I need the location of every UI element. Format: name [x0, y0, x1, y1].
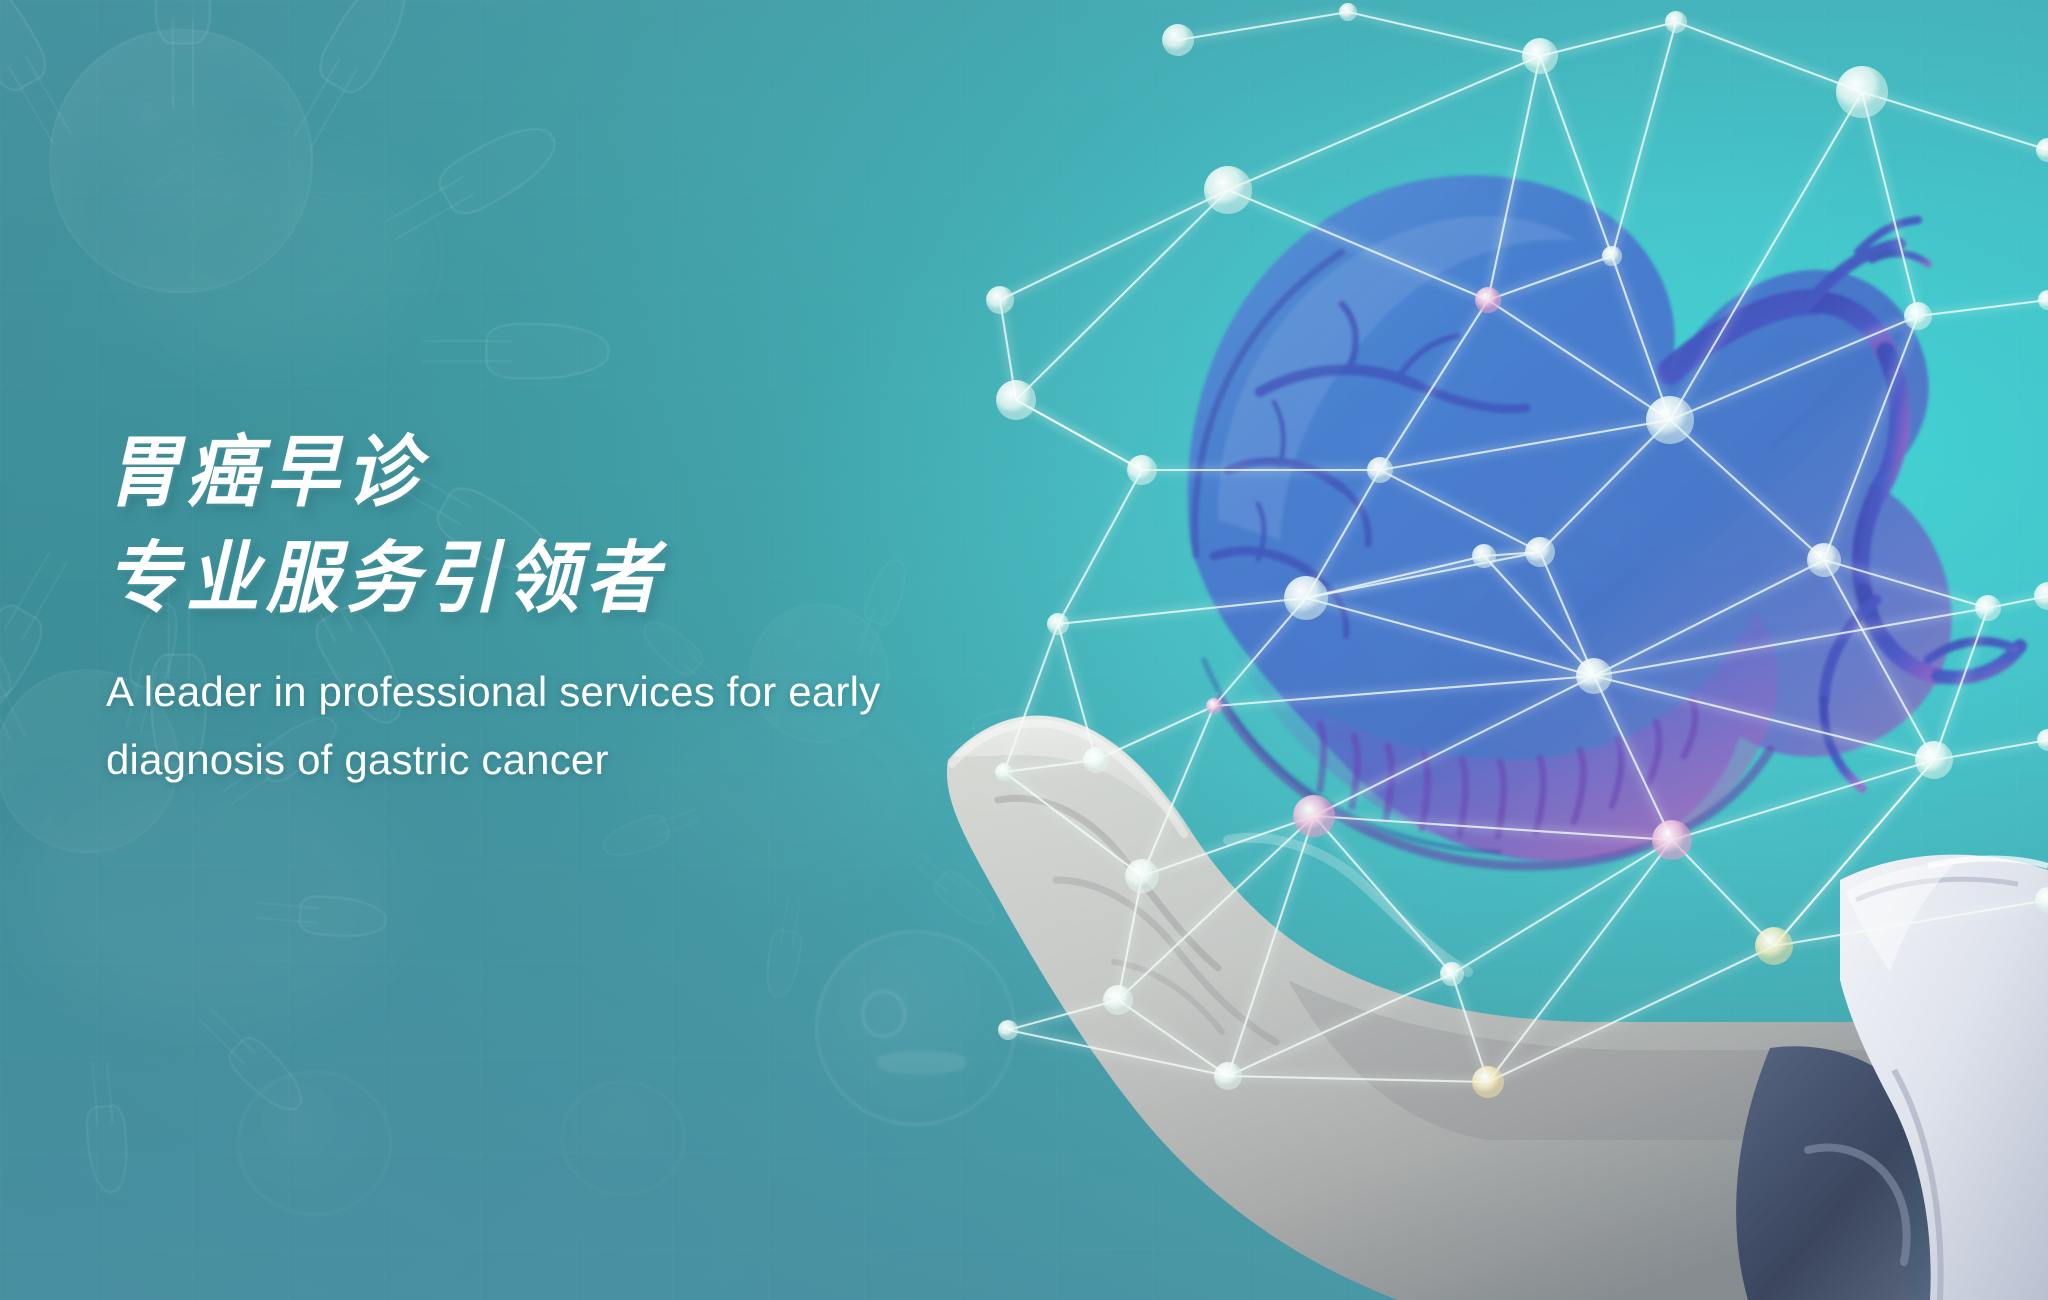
cell-particle-icon	[236, 1070, 392, 1216]
virus-particle-icon	[0, 0, 416, 396]
subtitle-line-1: A leader in professional services for ea…	[106, 658, 936, 726]
hero-copy-block: 胃癌早诊 专业服务引领者 A leader in professional se…	[106, 420, 1086, 794]
headline-line-1: 胃癌早诊	[106, 420, 1027, 526]
subtitle-line-2: diagnosis of gastric cancer	[106, 726, 936, 794]
banner-canvas: 胃癌早诊 专业服务引领者 A leader in professional se…	[0, 0, 2048, 1300]
subtitle-block: A leader in professional services for ea…	[106, 658, 1086, 794]
cell-particle-icon	[560, 1080, 686, 1196]
headline-line-2: 专业服务引领者	[106, 526, 1027, 632]
hero-artwork	[928, 0, 2048, 1300]
stomach-organ-illustration	[1188, 175, 2020, 866]
